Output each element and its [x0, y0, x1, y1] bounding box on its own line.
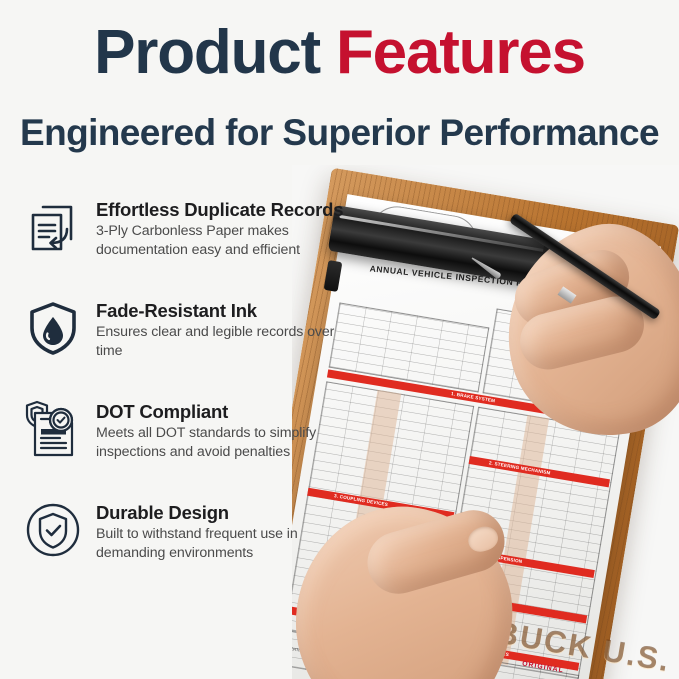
page-title: Product Features	[0, 22, 679, 84]
page-subtitle: Engineered for Superior Performance	[0, 112, 679, 155]
shield-ink-drop-icon	[22, 297, 84, 359]
feature-title: Effortless Duplicate Records	[96, 200, 343, 220]
feature-item-fade-resistant-ink: Fade-Resistant Ink Ensures clear and leg…	[22, 297, 342, 361]
feature-title: Fade-Resistant Ink	[96, 301, 342, 321]
infographic-canvas: Product Features Engineered for Superior…	[0, 0, 679, 679]
feature-description: Built to withstand frequent use in deman…	[96, 525, 342, 562]
feature-item-dot-compliant: DOT Compliant Meets all DOT standards to…	[22, 398, 342, 462]
feature-item-durable-design: Durable Design Built to withstand freque…	[22, 499, 342, 563]
shield-document-check-icon	[22, 398, 84, 460]
feature-text-block: DOT Compliant Meets all DOT standards to…	[96, 398, 342, 462]
duplicate-documents-icon	[22, 196, 84, 258]
feature-text-block: Effortless Duplicate Records 3-Ply Carbo…	[96, 196, 343, 260]
page-title-part-2: Features	[336, 18, 585, 87]
page-title-part-1: Product	[94, 18, 320, 87]
feature-description: 3-Ply Carbonless Paper makes documentati…	[96, 222, 343, 259]
feature-text-block: Durable Design Built to withstand freque…	[96, 499, 342, 563]
feature-title: DOT Compliant	[96, 402, 342, 422]
feature-title: Durable Design	[96, 503, 342, 523]
feature-text-block: Fade-Resistant Ink Ensures clear and leg…	[96, 297, 342, 361]
product-photo: ANNUAL VEHICLE INSPECTION REPORT 1. BRAK…	[292, 165, 679, 679]
feature-item-duplicate-records: Effortless Duplicate Records 3-Ply Carbo…	[22, 196, 342, 260]
feature-description: Ensures clear and legible records over t…	[96, 323, 342, 360]
shield-check-circle-icon	[22, 499, 84, 561]
feature-description: Meets all DOT standards to simplify insp…	[96, 424, 342, 461]
